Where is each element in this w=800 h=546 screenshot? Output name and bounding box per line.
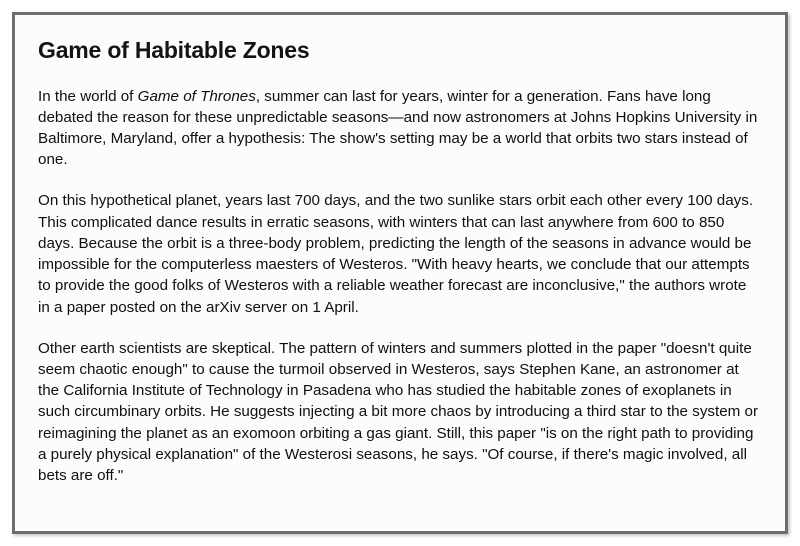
article-paragraph-intro: In the world of Game of Thrones, summer …	[38, 86, 760, 171]
page-root: Game of Habitable Zones In the world of …	[0, 0, 800, 546]
article-frame: Game of Habitable Zones In the world of …	[12, 12, 788, 534]
article-paragraph-hypothesis: On this hypothetical planet, years last …	[38, 190, 760, 317]
article-paragraph-skeptics: Other earth scientists are skeptical. Th…	[38, 338, 760, 486]
article-body: Game of Habitable Zones In the world of …	[38, 37, 760, 486]
page-title: Game of Habitable Zones	[38, 37, 760, 64]
article-paragraph-list: In the world of Game of Thrones, summer …	[38, 86, 760, 486]
italic-work-title: Game of Thrones	[138, 88, 256, 105]
